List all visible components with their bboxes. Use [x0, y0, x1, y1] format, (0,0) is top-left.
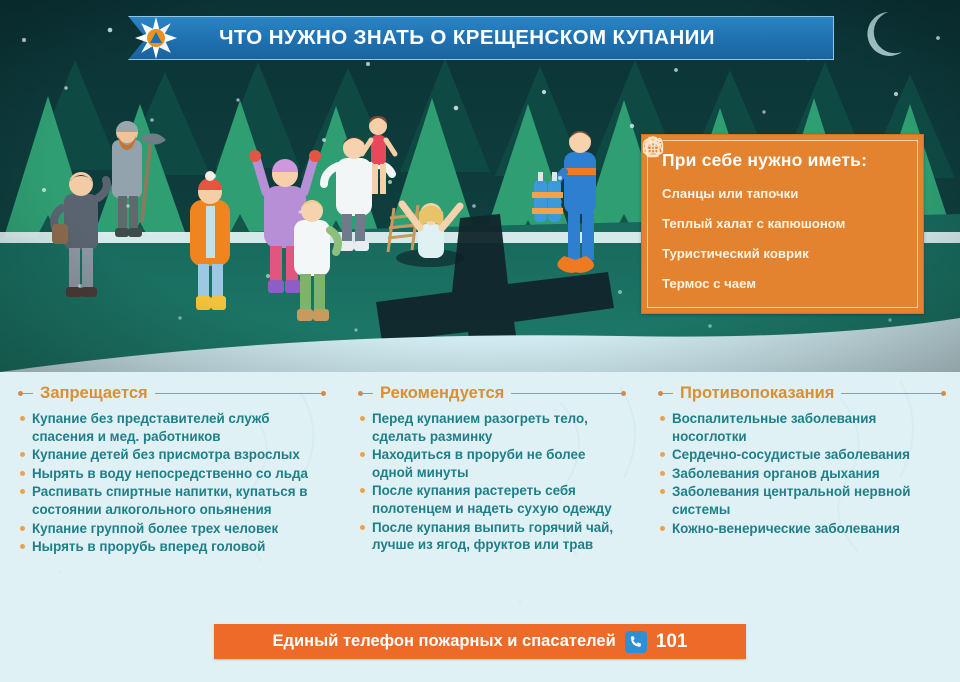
kit-item-label: Сланцы или тапочки	[662, 186, 798, 201]
kit-box: При себе нужно иметь: Сланцы или тапочки	[641, 134, 924, 314]
list-item: Кожно-венерические заболевания	[658, 520, 946, 538]
kit-item: Туристический коврик	[662, 238, 905, 268]
list-prohibited: Купание без представителей служб спасени…	[18, 410, 326, 556]
rule-dot-icon	[941, 391, 946, 396]
emercom-star-emblem	[128, 16, 184, 60]
kit-item-label: Термос с чаем	[662, 276, 756, 291]
list-item: Заболевания центральной нервной системы	[658, 483, 946, 518]
list-item: Нырять в прорубь вперед головой	[18, 538, 326, 556]
emergency-phone-number: 101	[656, 631, 688, 653]
phone-icon	[625, 631, 647, 653]
list-item: Купание без представителей служб спасени…	[18, 410, 326, 445]
list-item: После купания растереть себя полотенцем …	[358, 482, 626, 517]
kit-box-inner: При себе нужно иметь: Сланцы или тапочки	[647, 140, 918, 308]
rule-line	[511, 393, 621, 394]
kit-item: Термос с чаем	[662, 268, 905, 298]
column-recommended: Рекомендуется Перед купанием разогреть т…	[340, 380, 640, 557]
thermos-icon	[642, 135, 664, 159]
kit-list: Сланцы или тапочки Теплый халат с капюшо…	[662, 178, 905, 298]
list-item: Сердечно-сосудистые заболевания	[658, 446, 946, 464]
phone-glyph	[629, 635, 643, 649]
kit-item-label: Туристический коврик	[662, 246, 809, 261]
list-item: Купание группой более трех человек	[18, 520, 326, 538]
winter-scene: ЧТО НУЖНО ЗНАТЬ О КРЕЩЕНСКОМ КУПАНИИ При…	[0, 0, 960, 400]
rule-lead	[363, 393, 373, 394]
rule-lead	[23, 393, 33, 394]
list-item: Воспалительные заболевания носоглотки	[658, 410, 946, 445]
list-item: Находиться в проруби не более одной мину…	[358, 446, 626, 481]
list-item: После купания выпить горячий чай, лучше …	[358, 519, 626, 554]
rule-dot-icon	[321, 391, 326, 396]
column-contraindications: Противопоказания Воспалительные заболева…	[640, 380, 960, 557]
kit-item: Сланцы или тапочки	[662, 178, 905, 208]
column-prohibited: Запрещается Купание без представителей с…	[0, 380, 340, 557]
list-item: Нырять в воду непосредственно со льда	[18, 465, 326, 483]
column-heading: Рекомендуется	[373, 384, 511, 403]
column-heading: Противопоказания	[673, 384, 841, 403]
emergency-phone-label: Единый телефон пожарных и спасателей	[273, 632, 616, 651]
rule-line	[841, 393, 941, 394]
page-title: ЧТО НУЖНО ЗНАТЬ О КРЕЩЕНСКОМ КУПАНИИ	[162, 16, 772, 60]
rule-lead	[663, 393, 673, 394]
infographic-poster: ЧТО НУЖНО ЗНАТЬ О КРЕЩЕНСКОМ КУПАНИИ При…	[0, 0, 960, 682]
title-banner: ЧТО НУЖНО ЗНАТЬ О КРЕЩЕНСКОМ КУПАНИИ	[128, 16, 834, 60]
info-columns: Запрещается Купание без представителей с…	[0, 380, 960, 557]
kit-item-label: Теплый халат с капюшоном	[662, 216, 845, 231]
column-header: Запрещается	[18, 380, 326, 406]
column-header: Рекомендуется	[358, 380, 626, 406]
emergency-phone-bar: Единый телефон пожарных и спасателей 101	[214, 624, 746, 659]
column-heading: Запрещается	[33, 384, 155, 403]
column-header: Противопоказания	[658, 380, 946, 406]
kit-item: Теплый халат с капюшоном	[662, 208, 905, 238]
list-item: Распивать спиртные напитки, купаться в с…	[18, 483, 326, 518]
list-recommended: Перед купанием разогреть тело, сделать р…	[358, 410, 626, 554]
list-item: Купание детей без присмотра взрослых	[18, 446, 326, 464]
rule-line	[155, 393, 321, 394]
kit-box-title: При себе нужно иметь:	[662, 150, 905, 171]
list-item: Заболевания органов дыхания	[658, 465, 946, 483]
list-item: Перед купанием разогреть тело, сделать р…	[358, 410, 626, 445]
rule-dot-icon	[621, 391, 626, 396]
list-contraindications: Воспалительные заболевания носоглотки Се…	[658, 410, 946, 537]
